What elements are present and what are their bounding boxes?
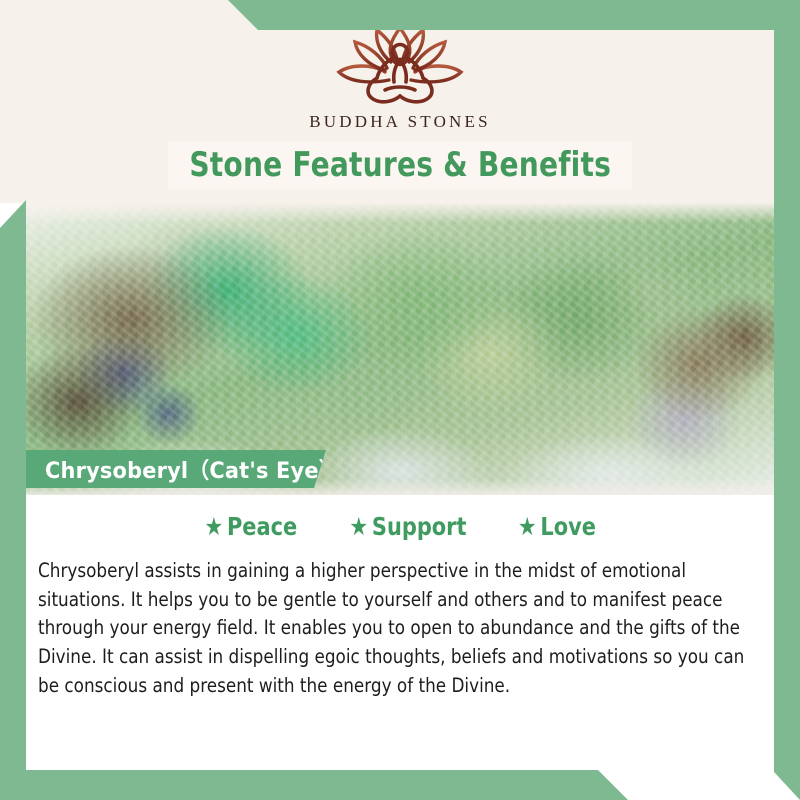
benefit-label: Peace xyxy=(227,512,297,541)
brand-wordmark: BUDDHA STONES xyxy=(0,112,800,132)
brand-logo: BUDDHA STONES xyxy=(0,22,800,132)
benefit-item-support: ★ Support xyxy=(349,512,466,541)
stone-name-label: Chrysoberyl（Cat's Eye） xyxy=(26,453,340,485)
benefit-label: Support xyxy=(372,512,467,541)
stone-name-banner: Chrysoberyl（Cat's Eye） xyxy=(26,450,326,488)
infographic-card: BUDDHA STONES Stone Features & Benefits … xyxy=(0,0,800,800)
benefits-row: ★ Peace ★ Support ★ Love xyxy=(26,495,774,541)
lotus-meditation-icon xyxy=(315,22,485,108)
star-icon: ★ xyxy=(349,514,368,539)
page-title-plaque: Stone Features & Benefits xyxy=(168,141,632,189)
star-icon: ★ xyxy=(205,514,224,539)
page-title: Stone Features & Benefits xyxy=(189,145,611,185)
stone-description: Chrysoberyl assists in gaining a higher … xyxy=(38,557,748,700)
content-section: ★ Peace ★ Support ★ Love Chrysoberyl ass… xyxy=(26,495,774,770)
star-icon: ★ xyxy=(518,514,537,539)
benefit-item-love: ★ Love xyxy=(518,512,596,541)
photo-top-fade xyxy=(26,203,774,223)
benefit-label: Love xyxy=(540,512,596,541)
frame-right-band xyxy=(774,0,800,800)
benefit-item-peace: ★ Peace xyxy=(205,512,298,541)
frame-bottom-band xyxy=(0,770,800,800)
